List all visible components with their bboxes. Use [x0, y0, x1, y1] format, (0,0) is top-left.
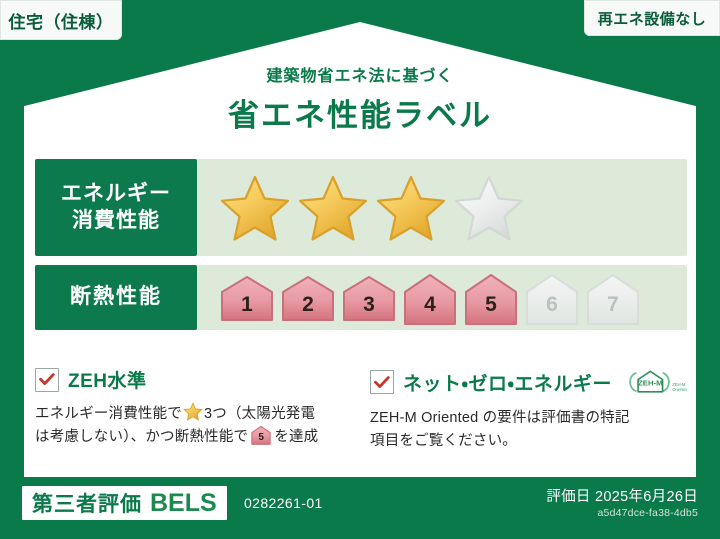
- bels-badge: 第三者評価 BELS: [22, 486, 227, 520]
- insulation-grade-chip-2: 2: [280, 274, 336, 322]
- zeh-standard-note: ZEH水準 エネルギー消費性能で3つ（太陽光発電は考慮しない）、かつ断熱性能で5…: [35, 366, 352, 454]
- evaluation-hash: a5d47dce-fa38-4db5: [597, 507, 698, 519]
- zeh-standard-checkbox[interactable]: [35, 368, 59, 392]
- insulation-grade-value-2: 2: [302, 294, 314, 322]
- net-zero-energy-note: ネット・ゼロ・エネルギー ZEH-M ZEH-M Oriented ZEH-M …: [370, 366, 687, 454]
- insulation-performance-content: 1 2 3: [197, 265, 687, 330]
- bels-certificate-number: 0282261-01: [244, 495, 323, 511]
- insulation-performance-label: 断熱性能: [35, 265, 197, 330]
- zeh-body-part1: エネルギー消費性能で: [35, 406, 182, 422]
- energy-performance-label: エネルギー 消費性能: [35, 159, 197, 256]
- insulation-grade-chip-4: 4: [402, 274, 458, 322]
- net-zero-energy-body: ZEH-M Oriented の要件は評価書の特記 項目をご覧ください。: [370, 407, 687, 454]
- net-zero-energy-heading: ネット・ゼロ・エネルギー ZEH-M ZEH-M Oriented: [370, 366, 687, 398]
- zeh-m-logo-text: ZEH-M: [638, 378, 663, 387]
- zeh-standard-body: エネルギー消費性能で3つ（太陽光発電は考慮しない）、かつ断熱性能で5を達成: [35, 402, 352, 454]
- insulation-grade-value-4: 4: [424, 294, 436, 322]
- building-type-tab: 住宅（住棟）: [0, 0, 122, 40]
- check-icon: [39, 373, 55, 386]
- star-icon-filled-2: [297, 173, 369, 243]
- insulation-grade-value-3: 3: [363, 294, 375, 322]
- zeh-m-logo-icon: ZEH-M ZEH-M Oriented: [625, 366, 687, 398]
- insulation-grade-value-5: 5: [485, 294, 497, 322]
- insulation-grade-chip-1: 1: [219, 274, 275, 322]
- zeh-m-logo-sub2: Oriented: [672, 387, 687, 392]
- star-icon-empty-4: [453, 173, 525, 243]
- star-icon-filled-1: [219, 173, 291, 243]
- insulation-grade-scale: 1 2 3: [197, 274, 641, 322]
- net-zero-energy-checkbox[interactable]: [370, 370, 394, 394]
- insulation-grade-chip-5: 5: [463, 274, 519, 322]
- insulation-grade-value-inline: 5: [250, 426, 272, 445]
- star-rating: [197, 173, 525, 243]
- insulation-grade-value-6: 6: [546, 294, 558, 322]
- zeh-body-star-count: 3つ（太陽光発電: [204, 406, 315, 422]
- bels-en-label: BELS: [150, 489, 217, 518]
- performance-rows: エネルギー 消費性能: [35, 159, 687, 339]
- zeh-standard-heading: ZEH水準: [35, 366, 352, 393]
- evaluation-date: 評価日 2025年6月26日: [546, 485, 698, 506]
- net-zero-body-line2: 項目をご覧ください。: [370, 430, 687, 453]
- label-footer: 第三者評価 BELS 0282261-01 評価日 2025年6月26日 a5d…: [0, 477, 720, 539]
- bels-jp-label: 第三者評価: [32, 488, 142, 518]
- insulation-grade-chip-3: 3: [341, 274, 397, 322]
- insulation-grade-value-1: 1: [241, 294, 253, 322]
- insulation-performance-row: 断熱性能: [35, 265, 687, 330]
- notes-section: ZEH水準 エネルギー消費性能で3つ（太陽光発電は考慮しない）、かつ断熱性能で5…: [35, 366, 687, 454]
- star-icon-inline: [183, 402, 203, 421]
- zeh-body-part3: を達成: [274, 429, 318, 445]
- energy-performance-label: 住宅（住棟） 再エネ設備なし 建築物省エネ法に基づく 省エネ性能ラベル エネルギ…: [0, 0, 720, 539]
- energy-performance-label-line1: エネルギー: [61, 181, 171, 207]
- insulation-performance-label-line1: 断熱性能: [70, 284, 162, 310]
- net-zero-energy-title: ネット・ゼロ・エネルギー: [403, 369, 612, 396]
- energy-performance-content: [197, 159, 687, 256]
- energy-performance-label-line2: 消費性能: [72, 208, 160, 234]
- zeh-standard-title: ZEH水準: [68, 366, 147, 393]
- energy-performance-row: エネルギー 消費性能: [35, 159, 687, 256]
- zeh-body-part2: は考慮しない）、かつ断熱性能で: [35, 429, 248, 445]
- insulation-grade-value-7: 7: [607, 294, 619, 322]
- building-type-tab-label: 住宅（住棟）: [9, 8, 114, 33]
- check-icon: [374, 376, 390, 389]
- insulation-grade-chip-7: 7: [585, 274, 641, 322]
- renewable-energy-tab: 再エネ設備なし: [584, 0, 720, 36]
- net-zero-body-line1: ZEH-M Oriented の要件は評価書の特記: [370, 407, 687, 430]
- insulation-grade-chip-6: 6: [524, 274, 580, 322]
- renewable-energy-tab-label: 再エネ設備なし: [598, 8, 707, 29]
- star-icon-filled-3: [375, 173, 447, 243]
- insulation-grade-chip-inline: 5: [250, 426, 272, 453]
